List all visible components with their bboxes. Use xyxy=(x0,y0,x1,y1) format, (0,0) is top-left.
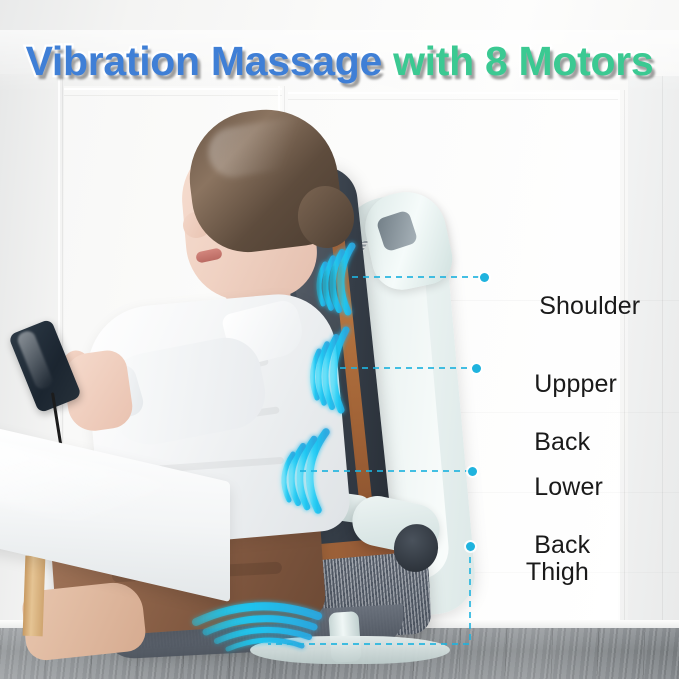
callout-text-thigh: Thigh xyxy=(526,558,589,586)
callout-dot-thigh[interactable] xyxy=(466,542,475,551)
callout-label-shoulder: Shoulder xyxy=(497,263,640,350)
callout-labels: Shoulder Uppper Back Lower Back Thigh xyxy=(0,0,679,679)
title-part-green: with 8 Motors xyxy=(393,38,653,84)
callout-text-upper-back-line1: Uppper xyxy=(534,370,617,398)
callout-label-thigh: Thigh xyxy=(484,529,589,616)
product-infographic: Shoulder Uppper Back Lower Back Thigh Vi… xyxy=(0,0,679,679)
callout-dot-lower-back[interactable] xyxy=(468,467,477,476)
callout-dot-upper-back[interactable] xyxy=(472,364,481,373)
callout-dot-shoulder[interactable] xyxy=(480,273,489,282)
title-part-blue: Vibration Massage xyxy=(26,38,394,84)
page-title: Vibration Massage with 8 Motors xyxy=(0,36,679,86)
callout-text-lower-back-line1: Lower xyxy=(534,473,603,501)
callout-text-shoulder: Shoulder xyxy=(539,292,640,320)
